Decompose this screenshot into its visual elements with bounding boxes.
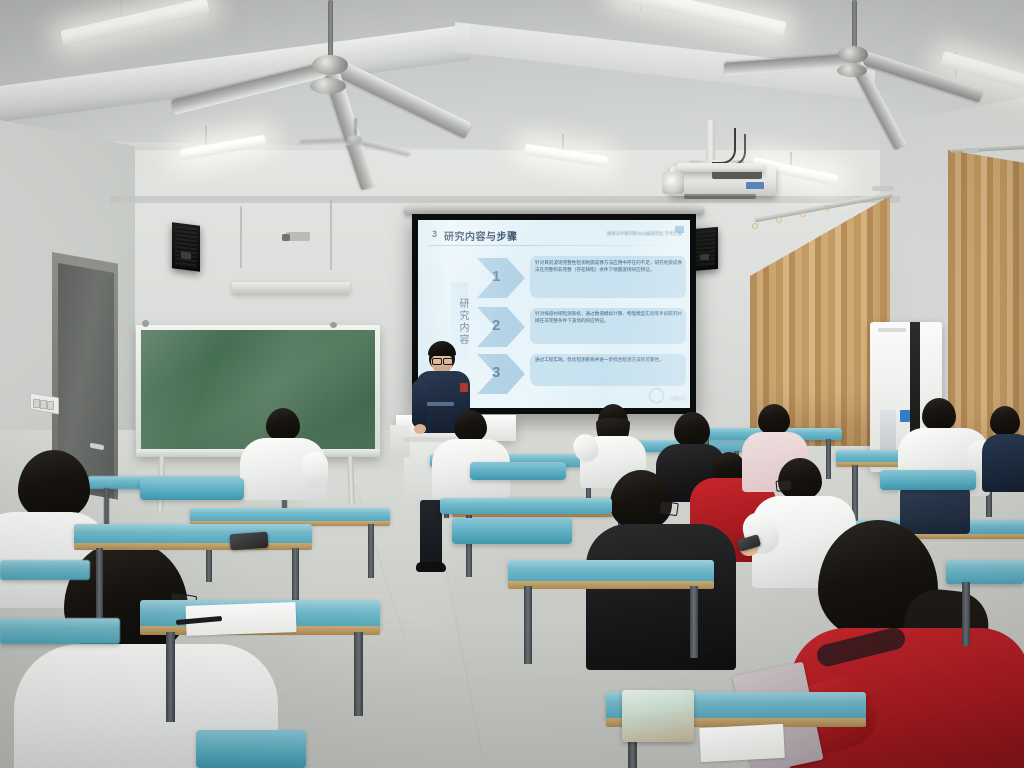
student-head <box>454 410 487 442</box>
desk <box>440 498 612 514</box>
student-head <box>922 398 956 431</box>
blackboard-mount <box>330 322 337 328</box>
desk <box>0 618 120 644</box>
phone[interactable] <box>229 532 268 551</box>
ceiling-fan <box>160 0 460 130</box>
wall-bracket-end <box>282 234 290 241</box>
desk-leg <box>166 632 175 722</box>
lamp-rod <box>240 206 242 268</box>
presenter-chest-text <box>424 402 454 406</box>
tissue-box-top <box>628 690 686 712</box>
classroom-photo: 3 研究内容与步骤 地球与环境学院2019级研究生 学术汇报 研究内容 1 针对… <box>0 0 1024 768</box>
desk-leg <box>354 632 363 716</box>
light-rod <box>120 0 122 16</box>
chair-back <box>452 518 572 544</box>
presenter-hand <box>414 424 426 434</box>
student-head <box>674 412 710 447</box>
hanging-lamp <box>232 282 350 294</box>
student-glasses <box>659 501 679 516</box>
desk-leg <box>690 586 698 658</box>
notebook[interactable] <box>699 724 785 762</box>
chair-back <box>140 478 244 500</box>
projector <box>660 120 800 210</box>
ac-vent <box>878 328 906 332</box>
student-with-phone <box>790 520 1024 768</box>
curtain-ring <box>776 217 782 223</box>
student-torso <box>586 524 736 670</box>
curtain-ring <box>800 211 806 217</box>
wall-speaker <box>172 222 200 271</box>
presenter-glasses <box>443 358 453 365</box>
desk-leg <box>368 524 374 578</box>
switch-key[interactable] <box>47 401 54 410</box>
blackboard-mount <box>142 320 149 327</box>
chair-back <box>196 730 306 768</box>
presenter-legs <box>420 500 442 568</box>
student <box>240 408 326 504</box>
switch-key[interactable] <box>40 400 47 409</box>
desk <box>946 560 1024 584</box>
student-head <box>18 450 90 520</box>
lamp-rod <box>330 200 332 270</box>
presenter-logo <box>460 383 468 392</box>
desk-leg <box>962 582 970 646</box>
student-head <box>990 406 1020 436</box>
curtain-ring <box>752 223 758 229</box>
student-arm <box>302 452 328 488</box>
student <box>432 410 510 502</box>
curtain-bracket <box>963 148 979 153</box>
desk-leg <box>524 586 532 664</box>
curtain-bracket <box>872 186 894 191</box>
chair-back <box>880 470 976 490</box>
desk <box>0 560 90 580</box>
presenter-shoe <box>416 562 446 572</box>
presenter-hair <box>428 341 456 356</box>
student-head <box>610 470 672 530</box>
ceiling-fan <box>300 118 420 168</box>
desk-edge <box>74 543 312 550</box>
student-glasses <box>775 479 792 492</box>
presenter-glasses <box>432 358 442 365</box>
switch-key[interactable] <box>33 399 40 408</box>
student-torso <box>982 434 1024 492</box>
desk-edge <box>508 581 714 589</box>
desk-leg <box>96 548 103 618</box>
student <box>982 406 1024 492</box>
presenter-arm <box>412 380 427 428</box>
ceiling-fan <box>730 0 1010 120</box>
student-head <box>266 408 300 441</box>
student-head <box>758 404 790 435</box>
curtain-ring <box>824 205 830 211</box>
chair-back <box>470 462 566 480</box>
